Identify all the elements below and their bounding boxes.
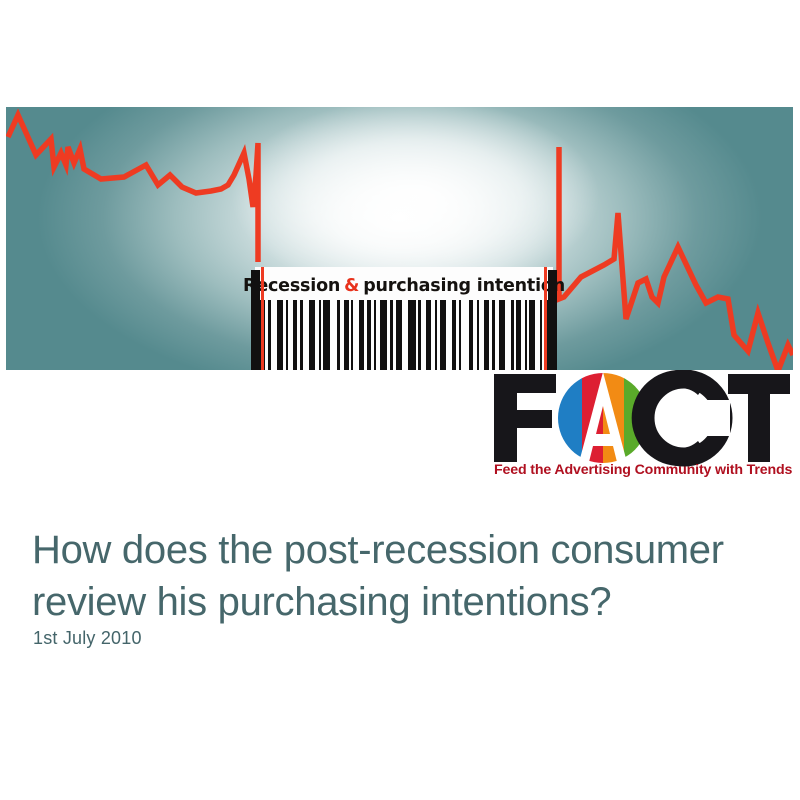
logo-letter-f — [494, 374, 556, 462]
slide-canvas: Recession & purchasing intention — [0, 0, 800, 800]
page-title: How does the post-recession consumer rev… — [32, 524, 762, 628]
barcode-heading-ampersand: & — [340, 276, 363, 296]
logo-wedge-blue — [558, 373, 582, 463]
barcode-accent-left — [261, 267, 264, 370]
presentation-date: 1st July 2010 — [33, 628, 142, 649]
barcode-bars — [259, 300, 549, 370]
barcode-accent-right — [544, 267, 547, 370]
logo-letter-c-mouth — [704, 400, 730, 436]
page-title-line-2: review his purchasing intentions? — [32, 576, 762, 628]
banner-image: Recession & purchasing intention — [6, 107, 793, 370]
barcode-graphic: Recession & purchasing intention — [249, 267, 559, 370]
barcode-guard-right — [548, 270, 557, 370]
barcode-guard-left — [251, 270, 260, 370]
logo-tagline: Feed the Advertising Community with Tren… — [494, 462, 792, 478]
barcode-heading-suffix: purchasing intention — [363, 276, 565, 296]
trendline-left-path — [8, 115, 258, 262]
logo-letter-t — [728, 374, 790, 462]
barcode-heading: Recession & purchasing intention — [263, 272, 545, 300]
page-title-line-1: How does the post-recession consumer — [32, 524, 762, 576]
fact-logo: Feed the Advertising Community with Tren… — [490, 370, 793, 478]
fact-logo-graphic: Feed the Advertising Community with Tren… — [490, 370, 793, 478]
trendline-right-path — [559, 147, 793, 370]
